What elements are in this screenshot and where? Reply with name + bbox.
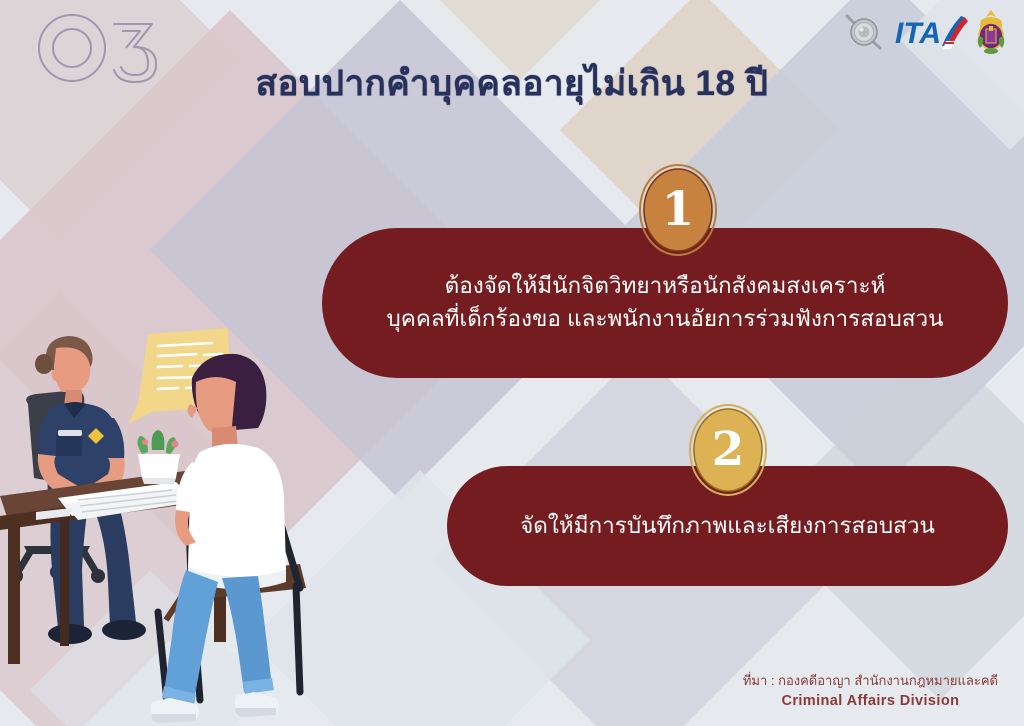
badge-number-2: 2: [688, 403, 768, 497]
police-emblem-logo: [840, 8, 888, 56]
garuda-emblem-logo: [974, 8, 1008, 56]
card-1-line-1: ต้องจัดให้มีนักจิตวิทยาหรือนักสังคมสงเคร…: [387, 270, 944, 303]
page-title: สอบปากคำบุคคลอายุไม่เกิน 18 ปี: [0, 56, 1024, 111]
cactus-plant: [137, 430, 180, 484]
footer-source-th: ที่มา : กองคดีอาญา สำนักงานกฎหมายและคดี: [743, 672, 998, 691]
footer-source-en: Criminal Affairs Division: [743, 691, 998, 712]
badge-2-label: 2: [712, 426, 745, 473]
badge-number-1: 1: [638, 163, 718, 257]
ita-logo: ITA: [894, 10, 968, 54]
slide-canvas: ITA สอบปากคำบุคคลอายุไม่เกิน 18 ปี ต้องจ…: [0, 0, 1024, 726]
ita-logo-text: ITA: [895, 17, 941, 50]
logo-group: ITA: [840, 6, 1008, 58]
card-2-text: จัดให้มีการบันทึกภาพและเสียงการสอบสวน: [494, 510, 961, 543]
badge-1-label: 1: [662, 186, 695, 233]
source-footer: ที่มา : กองคดีอาญา สำนักงานกฎหมายและคดี …: [743, 672, 998, 712]
card-1-line-2: บุคคลที่เด็กร้องขอ และพนักงานอัยการร่วมฟ…: [387, 303, 944, 336]
police-interview-illustration: [0, 320, 420, 726]
card-1-text: ต้องจัดให้มีนักจิตวิทยาหรือนักสังคมสงเคร…: [361, 270, 970, 335]
card-2-line-1: จัดให้มีการบันทึกภาพและเสียงการสอบสวน: [520, 510, 935, 543]
